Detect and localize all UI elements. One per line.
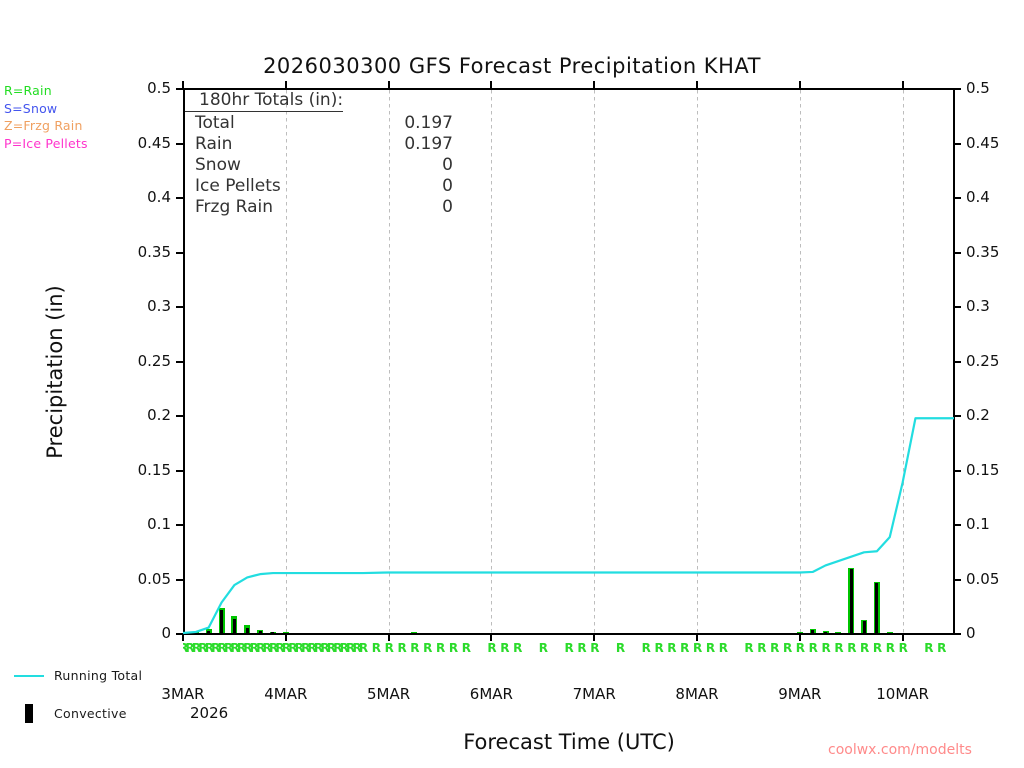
running-total-path [183,418,954,633]
ptype-marker-rain: R [886,642,895,654]
ptype-marker-rain: R [783,642,792,654]
y-axis-title: Precipitation (in) [43,257,67,487]
y-tick-label-left: 0.5 [127,79,171,97]
y-tick-mark-left [176,470,183,472]
x-tick-label: 10MAR [843,685,963,703]
y-tick-label-right: 0.2 [966,406,1016,424]
ptype-marker-rain: R [809,642,818,654]
ptype-marker-rain: R [449,642,458,654]
totals-box-header: 180hr Totals (in): [185,88,343,112]
ptype-marker-rain: R [539,642,548,654]
totals-row-snow: Snow 0 [185,154,485,175]
y-tick-mark-left [176,88,183,90]
y-tick-label-right: 0 [966,624,1016,642]
ptype-legend-snow: S=Snow [4,100,88,118]
ptype-marker-rain: R [462,642,471,654]
ptype-marker-rain: R [860,642,869,654]
precip-type-legend: R=Rain S=Snow Z=Frzg Rain P=Ice Pellets [4,82,88,152]
y-tick-label-right: 0.45 [966,134,1016,152]
ptype-marker-rain: R [899,642,908,654]
y-tick-mark-left [176,415,183,417]
totals-label-rain: Rain [185,134,343,154]
x-tick-mark-top [182,81,184,88]
y-tick-mark-left [176,524,183,526]
x-tick-mark-top [490,81,492,88]
ptype-marker-rain: R [822,642,831,654]
y-tick-label-left: 0.15 [127,461,171,479]
legend-convective: Convective [14,704,127,723]
ptype-marker-rain: R [924,642,933,654]
totals-value-frzg-rain: 0 [343,197,453,217]
ptype-marker-rain: R [847,642,856,654]
ptype-legend-frzg-rain: Z=Frzg Rain [4,117,88,135]
x-tick-mark-top [593,81,595,88]
totals-value-rain: 0.197 [343,134,453,154]
totals-label-total: Total [185,113,343,133]
ptype-marker-rain: R [744,642,753,654]
ptype-marker-rain: R [590,642,599,654]
ptype-marker-rain: R [385,642,394,654]
y-tick-label-right: 0.1 [966,515,1016,533]
y-tick-label-left: 0.45 [127,134,171,152]
ptype-marker-rain: R [680,642,689,654]
y-tick-mark-left [176,361,183,363]
ptype-marker-rain: R [693,642,702,654]
ptype-marker-rain: R [513,642,522,654]
ptype-marker-rain: R [873,642,882,654]
y-tick-label-left: 0.05 [127,570,171,588]
totals-summary-box: 180hr Totals (in): Total 0.197 Rain 0.19… [185,88,485,217]
ptype-marker-rain: R [500,642,509,654]
y-tick-label-left: 0.4 [127,188,171,206]
x-tick-mark-top [388,81,390,88]
ptype-marker-rain: R [616,642,625,654]
legend-running-total-label: Running Total [54,668,142,683]
page-title: 2026030300 GFS Forecast Precipitation KH… [0,54,1024,78]
totals-value-total: 0.197 [343,113,453,133]
y-tick-label-left: 0.35 [127,243,171,261]
ptype-marker-rain: R [487,642,496,654]
totals-label-snow: Snow [185,155,343,175]
ptype-legend-ice-pellets: P=Ice Pellets [4,135,88,153]
ptype-marker-rain: R [654,642,663,654]
totals-row-total: Total 0.197 [185,112,485,133]
y-tick-mark-left [176,197,183,199]
y-tick-label-right: 0.15 [966,461,1016,479]
ptype-marker-rain: R [642,642,651,654]
y-tick-label-left: 0.25 [127,352,171,370]
ptype-marker-rain: R [834,642,843,654]
y-tick-mark-left [176,252,183,254]
legend-convective-label: Convective [54,706,127,721]
x-tick-mark-top [902,81,904,88]
running-total-line-swatch [14,675,44,677]
ptype-marker-rain: R [937,642,946,654]
y-tick-mark-left [176,306,183,308]
y-tick-label-left: 0.1 [127,515,171,533]
totals-row-rain: Rain 0.197 [185,133,485,154]
totals-row-frzg-rain: Frzg Rain 0 [185,196,485,217]
x-tick-mark-top [285,81,287,88]
ptype-marker-rain: R [719,642,728,654]
y-tick-label-right: 0.3 [966,297,1016,315]
y-tick-label-left: 0.3 [127,297,171,315]
ptype-marker-rain: R [359,642,368,654]
ptype-marker-rain: R [397,642,406,654]
x-tick-mark-top [696,81,698,88]
y-tick-label-right: 0.5 [966,79,1016,97]
ptype-marker-rain: R [770,642,779,654]
totals-value-ice-pellets: 0 [343,176,453,196]
ptype-marker-rain: R [706,642,715,654]
y-tick-label-right: 0.25 [966,352,1016,370]
ptype-legend-rain: R=Rain [4,82,88,100]
legend-running-total: Running Total [14,668,142,683]
ptype-marker-rain: R [436,642,445,654]
y-tick-label-right: 0.4 [966,188,1016,206]
ptype-marker-rain: R [372,642,381,654]
y-tick-label-left: 0 [127,624,171,642]
ptype-marker-rain: R [757,642,766,654]
precip-type-markers: RRRRRRRRRRRRRRRRRRRRRRRRRRRRRRRRRRRRRRRR… [183,634,955,664]
convective-bar-swatch [14,704,44,723]
y-tick-mark-left [176,143,183,145]
y-tick-label-right: 0.35 [966,243,1016,261]
ptype-marker-rain: R [423,642,432,654]
ptype-marker-rain: R [796,642,805,654]
ptype-marker-rain: R [667,642,676,654]
totals-label-ice-pellets: Ice Pellets [185,176,343,196]
y-tick-label-right: 0.05 [966,570,1016,588]
totals-label-frzg-rain: Frzg Rain [185,197,343,217]
x-tick-mark-top [799,81,801,88]
y-tick-mark-left [176,579,183,581]
ptype-marker-rain: R [410,642,419,654]
ptype-marker-rain: R [565,642,574,654]
watermark: coolwx.com/modelts [828,742,972,758]
totals-value-snow: 0 [343,155,453,175]
totals-row-ice-pellets: Ice Pellets 0 [185,175,485,196]
ptype-marker-rain: R [577,642,586,654]
y-tick-label-left: 0.2 [127,406,171,424]
x-axis-year-label: 2026 [190,704,228,722]
